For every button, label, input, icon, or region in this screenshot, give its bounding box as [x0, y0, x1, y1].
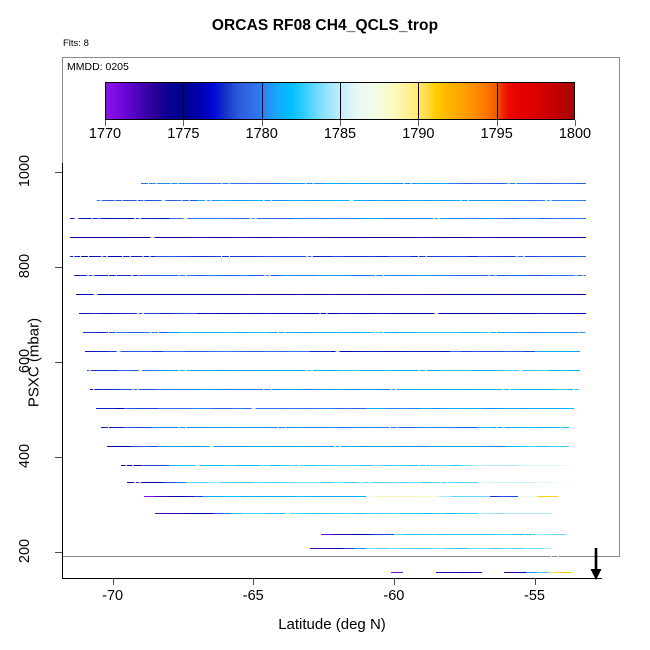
heatmap-cell — [271, 275, 282, 276]
data-point-marker — [181, 210, 190, 219]
data-point-marker — [128, 224, 137, 233]
heatmap-cell — [238, 496, 250, 497]
heatmap-cell — [428, 275, 440, 276]
heatmap-cell — [195, 275, 206, 276]
heatmap-cell — [225, 332, 237, 333]
heatmap-cell — [231, 482, 243, 483]
heatmap-cell — [118, 332, 131, 333]
heatmap-cell — [349, 275, 361, 276]
data-point-marker — [361, 410, 370, 419]
heatmap-cell — [561, 256, 573, 257]
data-point-marker — [91, 212, 100, 221]
heatmap-cell — [405, 237, 417, 238]
heatmap-cell — [197, 513, 214, 514]
colorbar-divider — [183, 82, 184, 120]
heatmap-cell — [304, 275, 316, 276]
heatmap-cell — [484, 183, 496, 184]
heatmap-cell — [478, 256, 490, 257]
heatmap-cell — [242, 513, 254, 514]
data-point-marker — [249, 284, 258, 293]
colorbar-tick-label: 1785 — [310, 126, 370, 142]
heatmap-cell — [370, 427, 381, 428]
heatmap-cell — [281, 275, 293, 276]
heatmap-cell — [551, 200, 563, 201]
heatmap-cell — [256, 408, 268, 409]
heatmap-cell — [315, 332, 327, 333]
data-point-marker — [536, 521, 545, 530]
heatmap-cell — [464, 496, 477, 497]
heatmap-cell — [73, 275, 85, 276]
data-point-marker — [432, 396, 441, 405]
heatmap-cell — [326, 294, 338, 295]
heatmap-cell — [304, 446, 316, 447]
heatmap-cell — [461, 370, 473, 371]
heatmap-cell — [360, 332, 372, 333]
data-point-marker — [193, 465, 202, 474]
heatmap-cell — [400, 256, 412, 257]
heatmap-cell — [560, 313, 573, 314]
heatmap-cell — [349, 237, 361, 238]
data-point-marker — [83, 241, 92, 250]
heatmap-cell — [518, 218, 530, 219]
heatmap-cell — [210, 256, 222, 257]
heatmap-cell — [349, 370, 361, 371]
data-point-marker — [193, 298, 202, 307]
heatmap-cell — [276, 200, 288, 201]
heatmap-cell — [574, 237, 586, 238]
heatmap-cell — [259, 218, 271, 219]
heatmap-cell — [241, 313, 253, 314]
data-point-marker — [131, 269, 140, 278]
heatmap-cell — [158, 218, 170, 219]
heatmap-cell — [439, 496, 452, 497]
heatmap-cell — [293, 294, 305, 295]
x-axis-tick — [535, 578, 536, 585]
heatmap-cell — [259, 370, 271, 371]
data-point-marker — [305, 178, 314, 187]
heatmap-cell — [152, 275, 163, 276]
data-point-marker — [403, 180, 412, 189]
heatmap-cell — [388, 513, 400, 514]
heatmap-cell — [405, 465, 417, 466]
heatmap-cell — [557, 351, 569, 352]
heatmap-cell — [397, 496, 408, 497]
heatmap-cell — [131, 332, 144, 333]
heatmap-cell — [524, 351, 535, 352]
heatmap-cell — [456, 482, 468, 483]
heatmap-cell — [480, 534, 491, 535]
heatmap-cell — [491, 313, 502, 314]
data-point-marker — [66, 269, 75, 278]
heatmap-cell — [459, 313, 470, 314]
heatmap-cell — [394, 370, 406, 371]
heatmap-cell — [377, 513, 389, 514]
data-point-marker — [170, 177, 179, 186]
heatmap-cell — [540, 183, 552, 184]
heatmap-cell — [535, 534, 546, 535]
heatmap-cell — [383, 313, 395, 314]
heatmap-cell — [119, 294, 130, 295]
heatmap-cell — [527, 446, 538, 447]
heatmap-cell — [360, 465, 372, 466]
heatmap-cell — [245, 427, 257, 428]
data-point-marker — [538, 484, 547, 493]
heatmap-cell — [436, 572, 448, 573]
data-point-marker — [319, 311, 328, 320]
heatmap-cell — [326, 389, 338, 390]
y-axis-tick — [55, 172, 62, 173]
heatmap-cell — [260, 183, 271, 184]
data-point-marker — [178, 425, 187, 434]
heatmap-cell — [539, 332, 551, 333]
heatmap-cell — [474, 389, 486, 390]
heatmap-cell — [166, 513, 183, 514]
data-point-marker — [519, 558, 528, 567]
data-point-marker — [103, 354, 112, 363]
heatmap-cell — [428, 237, 440, 238]
heatmap-cell — [97, 294, 108, 295]
heatmap-cell — [155, 496, 170, 497]
y-axis-label: PSXC (mbar) — [26, 253, 43, 473]
heatmap-cell — [563, 183, 575, 184]
heatmap-cell — [538, 370, 549, 371]
heatmap-cell — [506, 294, 518, 295]
colorbar-divider — [262, 82, 263, 120]
heatmap-cell — [198, 427, 210, 428]
data-point-marker — [122, 253, 131, 262]
heatmap-cell — [300, 408, 312, 409]
data-point-marker — [142, 254, 151, 263]
heatmap-cell — [448, 332, 460, 333]
heatmap-cell — [203, 465, 215, 466]
heatmap-cell — [416, 275, 428, 276]
heatmap-cell — [529, 294, 541, 295]
heatmap-cell — [191, 370, 203, 371]
heatmap-cell — [186, 351, 198, 352]
heatmap-cell — [158, 446, 170, 447]
heatmap-cell — [547, 496, 557, 497]
heatmap-cell — [366, 256, 378, 257]
heatmap-cell — [482, 351, 493, 352]
heatmap-cell — [178, 389, 190, 390]
heatmap-cell — [548, 446, 559, 447]
data-point-marker — [263, 517, 272, 526]
heatmap-cell — [461, 218, 473, 219]
data-point-marker — [204, 193, 213, 202]
data-point-marker — [558, 284, 567, 293]
heatmap-cell — [467, 256, 479, 257]
heatmap-cell — [355, 200, 367, 201]
heatmap-cell — [172, 294, 183, 295]
heatmap-cell — [355, 256, 367, 257]
heatmap-cell — [270, 465, 282, 466]
heatmap-cell — [405, 534, 416, 535]
heatmap-cell — [332, 256, 344, 257]
heatmap-cell — [512, 548, 524, 549]
heatmap-cell — [141, 351, 153, 352]
data-point-marker — [221, 314, 230, 323]
heatmap-cell — [298, 351, 310, 352]
heatmap-cell — [291, 427, 303, 428]
heatmap-cell — [326, 332, 338, 333]
heatmap-cell — [114, 218, 126, 219]
heatmap-cell — [338, 237, 350, 238]
heatmap-cell — [540, 237, 552, 238]
heatmap-cell — [326, 218, 338, 219]
heatmap-cell — [321, 200, 333, 201]
heatmap-cell — [371, 183, 383, 184]
heatmap-cell — [461, 237, 473, 238]
heatmap-cell — [332, 482, 344, 483]
heatmap-cell — [473, 294, 485, 295]
heatmap-cell — [259, 465, 271, 466]
heatmap-cell — [409, 408, 420, 409]
heatmap-cell — [456, 548, 468, 549]
heatmap-cell — [180, 465, 192, 466]
heatmap-cell — [473, 183, 485, 184]
heatmap-cell — [445, 548, 457, 549]
heatmap-cell — [348, 427, 359, 428]
heatmap-cell — [372, 313, 384, 314]
data-point-marker — [524, 501, 533, 510]
heatmap-cell — [304, 237, 316, 238]
heatmap-cell — [470, 332, 482, 333]
heatmap-cell — [225, 446, 237, 447]
heatmap-cell — [361, 313, 373, 314]
heatmap-cell — [416, 183, 428, 184]
heatmap-cell — [326, 370, 338, 371]
heatmap-cell — [394, 313, 405, 314]
heatmap-cell — [108, 294, 119, 295]
heatmap-cell — [484, 370, 496, 371]
heatmap-cell — [315, 237, 327, 238]
data-point-marker — [263, 195, 272, 204]
data-point-marker — [235, 355, 244, 364]
data-point-marker — [432, 313, 441, 322]
heatmap-cell — [310, 482, 322, 483]
data-point-marker — [72, 210, 81, 219]
data-point-marker — [561, 500, 570, 509]
heatmap-cell — [495, 275, 507, 276]
heatmap-cell — [556, 389, 568, 390]
heatmap-cell — [227, 275, 238, 276]
heatmap-cell — [371, 465, 383, 466]
heatmap-cell — [484, 465, 496, 466]
heatmap-cell — [281, 294, 293, 295]
data-point-marker — [375, 270, 384, 279]
heatmap-cell — [310, 513, 322, 514]
heatmap-cell — [236, 465, 248, 466]
heatmap-cell — [278, 408, 290, 409]
heatmap-cell — [416, 218, 428, 219]
heatmap-cell — [366, 408, 377, 409]
heatmap-cell — [377, 482, 389, 483]
heatmap-cell — [509, 389, 521, 390]
data-point-marker — [524, 530, 533, 539]
heatmap-cell — [456, 256, 468, 257]
heatmap-cell — [291, 389, 303, 390]
data-point-marker — [474, 452, 483, 461]
heatmap-cell — [249, 275, 260, 276]
heatmap-cell — [411, 548, 423, 549]
heatmap-cell — [546, 351, 558, 352]
heatmap-cell — [274, 313, 286, 314]
heatmap-cell — [310, 548, 322, 549]
heatmap-cell — [225, 465, 237, 466]
heatmap-cell — [440, 389, 452, 390]
heatmap-cell — [287, 256, 299, 257]
data-point-marker — [460, 558, 469, 567]
data-point-marker — [578, 326, 587, 335]
heatmap-cell — [118, 275, 130, 276]
heatmap-cell — [548, 370, 559, 371]
heatmap-cell — [350, 313, 362, 314]
heatmap-cell — [265, 351, 277, 352]
heatmap-cell — [484, 218, 496, 219]
heatmap-cell — [197, 313, 209, 314]
heatmap-cell — [293, 446, 305, 447]
heatmap-cell — [540, 408, 552, 409]
data-point-marker — [502, 224, 511, 233]
heatmap-cell — [516, 513, 529, 514]
heatmap-cell — [79, 313, 91, 314]
heatmap-cell — [315, 218, 327, 219]
heatmap-cell — [163, 482, 175, 483]
heatmap-cell — [520, 389, 532, 390]
data-point-marker — [105, 437, 114, 446]
heatmap-cell — [315, 294, 327, 295]
data-point-marker — [74, 328, 83, 337]
heatmap-cell — [203, 332, 215, 333]
heatmap-cell — [212, 408, 224, 409]
heatmap-cell — [394, 237, 406, 238]
heatmap-cell — [371, 534, 383, 535]
heatmap-cell — [287, 482, 299, 483]
heatmap-cell — [371, 237, 383, 238]
data-point-marker — [88, 223, 97, 232]
heatmap-cell — [289, 408, 301, 409]
heatmap-cell — [405, 370, 417, 371]
data-point-marker — [164, 357, 173, 366]
heatmap-cell — [467, 427, 478, 428]
heatmap-cell — [574, 183, 586, 184]
heatmap-cell — [416, 446, 428, 447]
heatmap-cell — [420, 200, 431, 201]
data-point-marker — [516, 370, 525, 379]
heatmap-cell — [543, 548, 552, 549]
heatmap-cell — [118, 446, 130, 447]
x-axis-tick-label: -60 — [364, 588, 424, 604]
heatmap-cell — [474, 200, 485, 201]
heatmap-cell — [388, 256, 400, 257]
heatmap-cell — [563, 408, 575, 409]
heatmap-cell — [259, 332, 271, 333]
heatmap-cell — [253, 482, 265, 483]
heatmap-cell — [400, 548, 412, 549]
page-title: ORCAS RF08 CH4_QCLS_trop — [0, 17, 650, 35]
data-point-marker — [142, 395, 151, 404]
heatmap-cell — [220, 351, 232, 352]
heatmap-cell — [478, 513, 491, 514]
heatmap-cell — [248, 332, 260, 333]
heatmap-cell — [276, 482, 288, 483]
x-axis-tick — [253, 578, 254, 585]
heatmap-cell — [276, 256, 288, 257]
heatmap-cell — [409, 200, 420, 201]
heatmap-cell — [495, 237, 507, 238]
data-point-marker — [159, 192, 168, 201]
heatmap-cell — [238, 275, 249, 276]
data-point-marker — [114, 195, 123, 204]
y-axis-tick-label: 200 — [17, 528, 33, 574]
heatmap-cell — [96, 351, 108, 352]
heatmap-cell — [169, 446, 181, 447]
heatmap-cell — [203, 370, 215, 371]
heatmap-cell — [383, 237, 395, 238]
heatmap-cell — [315, 370, 327, 371]
heatmap-cell — [214, 332, 226, 333]
heatmap-cell — [118, 389, 131, 390]
heatmap-cell — [550, 332, 562, 333]
heatmap-cell — [160, 313, 173, 314]
data-point-marker — [508, 178, 517, 187]
heatmap-cell — [230, 313, 242, 314]
heatmap-cell — [529, 218, 541, 219]
heatmap-cell — [486, 389, 498, 390]
heatmap-cell — [180, 237, 192, 238]
heatmap-cell — [563, 237, 575, 238]
data-point-marker — [136, 194, 145, 203]
heatmap-cell — [254, 256, 266, 257]
colorbar-tick-label: 1770 — [75, 126, 135, 142]
heatmap-cell — [215, 294, 226, 295]
heatmap-cell — [281, 370, 293, 371]
data-point-marker — [263, 384, 272, 393]
heatmap-cell — [501, 548, 513, 549]
heatmap-cell — [338, 332, 350, 333]
data-point-marker — [207, 341, 216, 350]
heatmap-cell — [225, 370, 237, 371]
heatmap-cell — [206, 183, 217, 184]
heatmap-cell — [503, 351, 514, 352]
heatmap-cell — [173, 313, 186, 314]
heatmap-cell — [526, 572, 538, 573]
heatmap-cell — [191, 332, 203, 333]
data-point-marker — [114, 343, 123, 352]
colorbar-divider — [497, 82, 498, 120]
heatmap-cell — [404, 332, 416, 333]
data-point-marker — [100, 255, 109, 264]
heatmap-cell — [337, 389, 349, 390]
heatmap-cell — [169, 465, 181, 466]
heatmap-cell — [422, 548, 434, 549]
heatmap-cell — [574, 218, 586, 219]
data-point-marker — [575, 269, 584, 278]
heatmap-cell — [360, 389, 372, 390]
data-point-marker — [530, 397, 539, 406]
heatmap-cell — [252, 313, 264, 314]
heatmap-cell — [428, 370, 440, 371]
heatmap-cell — [169, 408, 181, 409]
heatmap-cell — [113, 427, 125, 428]
heatmap-cell — [433, 256, 445, 257]
heatmap-cell — [450, 237, 462, 238]
heatmap-cell — [551, 275, 563, 276]
heatmap-cell — [506, 275, 518, 276]
data-point-marker — [502, 466, 511, 475]
heatmap-cell — [383, 446, 395, 447]
data-point-marker — [94, 297, 103, 306]
